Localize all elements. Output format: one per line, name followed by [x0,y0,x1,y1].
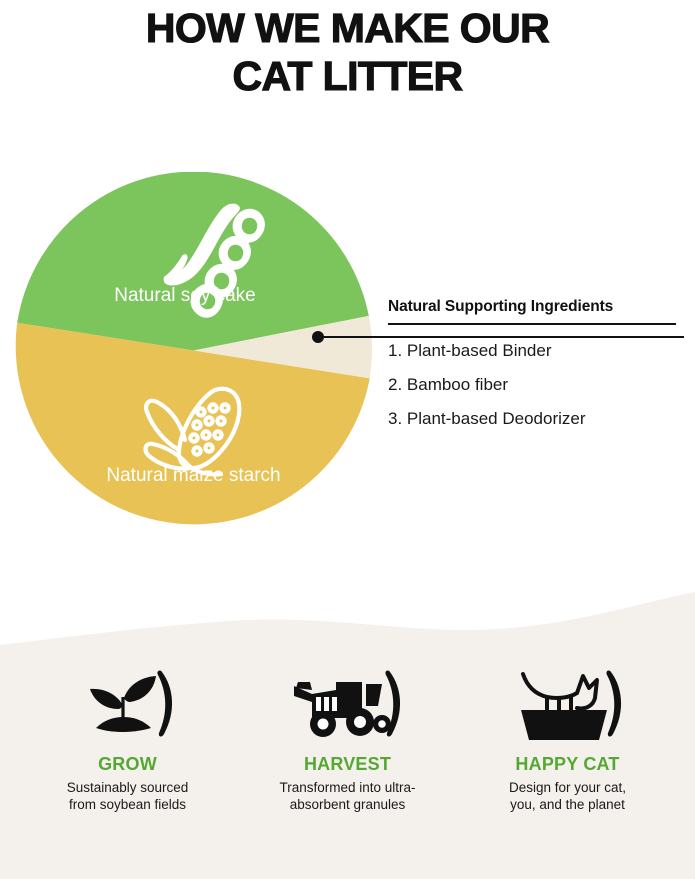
list-item: 1. Plant-based Binder [388,341,678,361]
process-steps: GROW Sustainably sourced from soybean fi… [0,664,695,813]
feature-desc-happy-cat: Design for your cat, you, and the planet [468,779,668,813]
infographic-page: HOW WE MAKE OUR CAT LITTER [0,0,695,879]
feature-desc-grow: Sustainably sourced from soybean fields [28,779,228,813]
ingredients-list: 1. Plant-based Binder 2. Bamboo fiber 3.… [388,341,678,429]
pie-label-soy: Natural soy cake [15,285,355,307]
sprout-icon [28,664,228,746]
feature-title-grow: GROW [28,754,228,775]
feature-desc-harvest: Transformed into ultra-absorbent granule… [248,779,448,813]
title-line-1: HOW WE MAKE OUR [0,4,695,52]
ingredients-divider [388,323,676,325]
feature-harvest: HARVEST Transformed into ultra-absorbent… [248,664,448,813]
title-line-2: CAT LITTER [0,52,695,100]
feature-grow: GROW Sustainably sourced from soybean fi… [28,664,228,813]
pie-label-maize: Natural maize starch [15,465,372,487]
feature-title-happy-cat: HAPPY CAT [468,754,668,775]
feature-title-harvest: HARVEST [248,754,448,775]
combine-harvester-icon [248,664,448,746]
cat-litter-box-icon [468,664,668,746]
supporting-ingredients-panel: Natural Supporting Ingredients 1. Plant-… [388,298,678,429]
page-title: HOW WE MAKE OUR CAT LITTER [0,4,695,100]
ingredients-heading: Natural Supporting Ingredients [388,298,678,316]
ingredient-pie-chart: Natural soy cake Natural maize starch [15,172,372,529]
list-item: 3. Plant-based Deodorizer [388,409,678,429]
list-item: 2. Bamboo fiber [388,375,678,395]
feature-happy-cat: HAPPY CAT Design for your cat, you, and … [468,664,668,813]
